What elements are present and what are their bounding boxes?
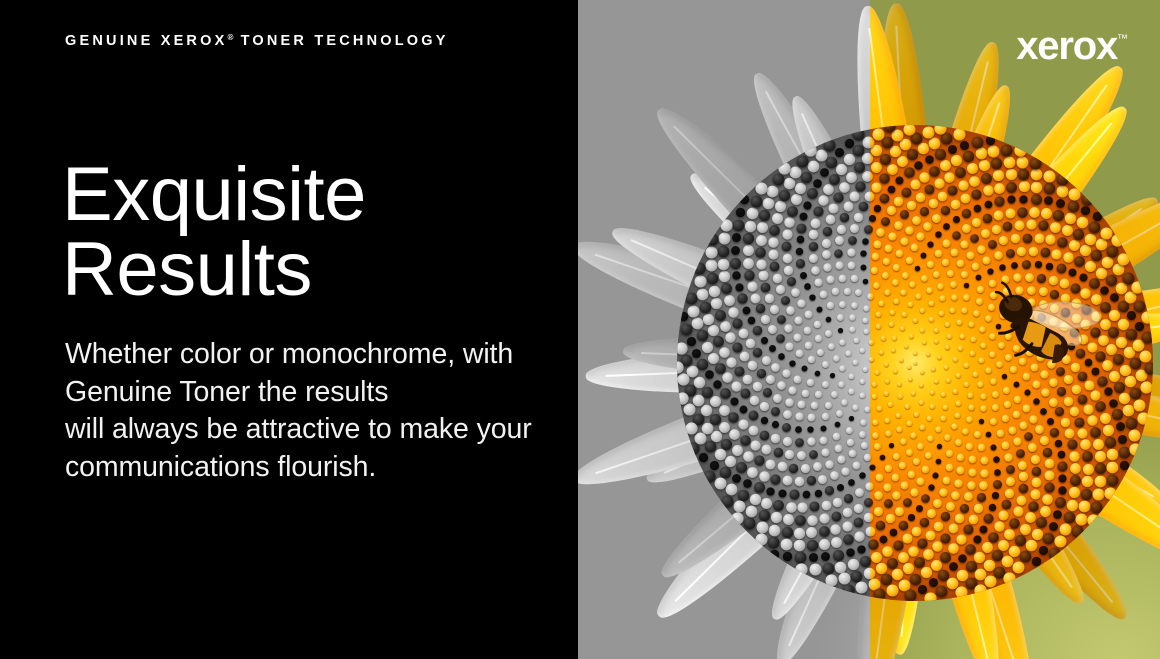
disc-floret bbox=[959, 180, 969, 190]
disc-floret bbox=[1017, 207, 1027, 217]
disc-floret bbox=[988, 240, 997, 249]
disc-floret bbox=[1120, 461, 1129, 470]
disc-floret bbox=[980, 481, 989, 490]
disc-floret bbox=[984, 513, 994, 523]
disc-floret bbox=[895, 412, 901, 418]
disc-floret bbox=[937, 444, 942, 449]
disc-floret bbox=[871, 182, 881, 192]
disc-floret bbox=[914, 411, 920, 417]
disc-floret bbox=[916, 233, 924, 241]
disc-floret bbox=[970, 234, 979, 243]
disc-floret bbox=[873, 128, 885, 140]
disc-floret bbox=[940, 416, 946, 422]
disc-floret bbox=[869, 356, 874, 361]
disc-floret bbox=[889, 310, 895, 316]
disc-floret bbox=[1067, 440, 1077, 450]
disc-floret bbox=[924, 550, 935, 561]
disc-floret bbox=[945, 434, 952, 441]
disc-floret bbox=[1093, 439, 1104, 450]
disc-floret bbox=[1081, 193, 1093, 205]
disc-floret bbox=[881, 217, 890, 226]
disc-floret bbox=[929, 300, 935, 306]
disc-floret bbox=[899, 462, 906, 469]
disc-floret bbox=[1009, 518, 1020, 529]
disc-floret bbox=[900, 237, 908, 245]
disc-floret bbox=[1091, 391, 1101, 401]
disc-floret bbox=[964, 492, 973, 501]
disc-floret bbox=[956, 372, 961, 377]
disc-floret bbox=[879, 193, 889, 203]
disc-floret bbox=[871, 163, 882, 174]
disc-floret bbox=[980, 393, 986, 399]
disc-floret bbox=[977, 493, 986, 502]
disc-floret bbox=[999, 265, 1006, 272]
disc-floret bbox=[999, 236, 1008, 245]
disc-floret bbox=[988, 532, 999, 543]
disc-floret bbox=[935, 148, 946, 159]
disc-floret bbox=[904, 344, 908, 348]
disc-floret bbox=[982, 542, 993, 553]
disc-floret bbox=[1022, 233, 1032, 243]
disc-floret bbox=[933, 271, 940, 278]
xerox-toner-banner: xerox™ GENUINE XEROX® TONER TECHNOLOGY E… bbox=[0, 0, 1160, 659]
disc-floret bbox=[871, 381, 876, 386]
disc-floret bbox=[882, 547, 893, 558]
disc-floret bbox=[1074, 256, 1085, 267]
disc-floret bbox=[882, 272, 889, 279]
disc-floret bbox=[955, 167, 966, 178]
disc-floret bbox=[920, 567, 931, 578]
disc-floret bbox=[909, 334, 914, 339]
disc-floret bbox=[1016, 495, 1026, 505]
disc-floret bbox=[956, 534, 966, 544]
disc-floret bbox=[973, 535, 981, 543]
trademark-icon: ™ bbox=[1117, 33, 1128, 45]
disc-floret bbox=[1095, 463, 1106, 474]
disc-floret bbox=[1032, 466, 1042, 476]
disc-floret bbox=[1060, 418, 1070, 428]
disc-floret bbox=[1103, 424, 1114, 435]
disc-floret bbox=[1064, 512, 1076, 524]
disc-floret bbox=[1013, 438, 1021, 446]
disc-floret bbox=[884, 499, 893, 508]
disc-floret bbox=[918, 585, 927, 594]
disc-floret bbox=[1069, 406, 1079, 416]
disc-floret bbox=[906, 420, 912, 426]
disc-floret bbox=[1001, 415, 1009, 423]
disc-floret bbox=[1050, 428, 1059, 437]
disc-floret bbox=[934, 249, 942, 257]
disc-floret bbox=[875, 370, 880, 375]
disc-floret bbox=[953, 389, 959, 395]
disc-floret bbox=[1025, 389, 1031, 395]
disc-floret bbox=[1069, 451, 1079, 461]
disc-floret bbox=[1065, 213, 1076, 224]
disc-floret bbox=[929, 578, 938, 587]
disc-floret bbox=[1044, 171, 1056, 183]
disc-floret bbox=[877, 228, 886, 237]
disc-floret bbox=[1041, 388, 1050, 397]
disc-floret bbox=[981, 229, 990, 238]
disc-floret bbox=[1056, 185, 1068, 197]
disc-floret bbox=[912, 526, 922, 536]
disc-floret bbox=[1046, 262, 1054, 270]
disc-floret bbox=[988, 269, 994, 275]
disc-floret bbox=[1039, 436, 1048, 445]
disc-floret bbox=[1079, 501, 1091, 513]
disc-floret bbox=[1064, 428, 1074, 438]
disc-floret bbox=[894, 221, 903, 230]
disc-floret bbox=[893, 264, 900, 271]
disc-floret bbox=[1089, 222, 1101, 234]
disc-floret bbox=[914, 351, 918, 355]
disc-floret bbox=[1075, 513, 1087, 525]
disc-floret bbox=[1142, 311, 1153, 323]
disc-floret bbox=[945, 345, 950, 350]
disc-floret bbox=[992, 492, 999, 499]
disc-floret bbox=[1106, 275, 1117, 286]
disc-floret bbox=[1044, 183, 1056, 195]
disc-floret bbox=[947, 334, 952, 339]
disc-floret bbox=[1040, 247, 1050, 257]
disc-floret bbox=[968, 322, 974, 328]
disc-floret bbox=[986, 432, 992, 438]
disc-floret bbox=[955, 439, 962, 446]
disc-floret bbox=[919, 172, 929, 182]
disc-floret bbox=[990, 444, 996, 450]
disc-floret bbox=[874, 204, 881, 211]
disc-floret bbox=[935, 231, 942, 238]
disc-floret bbox=[927, 509, 936, 518]
disc-floret bbox=[1003, 222, 1013, 232]
disc-floret bbox=[930, 390, 935, 395]
disc-floret bbox=[926, 530, 936, 540]
disc-floret bbox=[1030, 415, 1038, 423]
disc-floret bbox=[1019, 181, 1030, 192]
disc-floret bbox=[1015, 535, 1026, 546]
disc-floret bbox=[960, 241, 968, 249]
disc-floret bbox=[912, 216, 921, 225]
disc-floret bbox=[980, 457, 988, 465]
disc-floret bbox=[879, 350, 884, 355]
disc-floret bbox=[908, 366, 912, 370]
disc-floret bbox=[939, 296, 945, 302]
disc-floret bbox=[1015, 220, 1025, 230]
disc-floret bbox=[927, 261, 934, 268]
disc-floret bbox=[1096, 401, 1107, 412]
disc-floret bbox=[962, 208, 971, 217]
disc-floret bbox=[1135, 321, 1144, 330]
disc-floret bbox=[965, 544, 976, 555]
disc-floret bbox=[913, 458, 920, 465]
disc-floret bbox=[1019, 421, 1027, 429]
disc-floret bbox=[1120, 365, 1131, 376]
disc-floret bbox=[1044, 196, 1053, 205]
disc-floret bbox=[1001, 145, 1013, 157]
disc-floret bbox=[885, 379, 890, 384]
disc-floret bbox=[964, 294, 971, 301]
disc-floret bbox=[919, 400, 924, 405]
disc-floret bbox=[976, 275, 982, 281]
disc-floret bbox=[929, 199, 939, 209]
disc-floret bbox=[900, 325, 905, 330]
disc-floret bbox=[910, 488, 918, 496]
disc-floret bbox=[1057, 462, 1067, 472]
disc-floret bbox=[937, 355, 942, 360]
disc-floret bbox=[1104, 388, 1112, 396]
disc-floret bbox=[1070, 463, 1081, 474]
disc-floret bbox=[983, 214, 993, 224]
disc-floret bbox=[879, 173, 890, 184]
disc-floret bbox=[903, 563, 914, 574]
disc-floret bbox=[1002, 556, 1014, 568]
disc-floret bbox=[941, 533, 951, 543]
disc-floret bbox=[917, 443, 924, 450]
disc-floret bbox=[1125, 329, 1137, 341]
disc-floret bbox=[880, 535, 888, 543]
disc-floret bbox=[1028, 501, 1038, 511]
disc-floret bbox=[898, 394, 903, 399]
disc-floret bbox=[1047, 418, 1054, 425]
disc-floret bbox=[1118, 435, 1127, 444]
disc-floret bbox=[1111, 234, 1123, 246]
disc-floret bbox=[1043, 533, 1055, 545]
disc-floret bbox=[1062, 225, 1073, 236]
disc-floret bbox=[956, 259, 964, 267]
disc-floret bbox=[1032, 529, 1043, 540]
disc-floret bbox=[983, 186, 994, 197]
disc-floret bbox=[963, 151, 974, 162]
disc-floret bbox=[893, 541, 903, 551]
disc-floret bbox=[888, 322, 893, 327]
disc-floret bbox=[951, 491, 960, 500]
disc-floret bbox=[903, 125, 915, 135]
disc-floret bbox=[1004, 529, 1015, 540]
disc-floret bbox=[920, 371, 924, 375]
disc-floret bbox=[919, 308, 925, 314]
disc-floret bbox=[884, 464, 892, 472]
disc-floret bbox=[915, 162, 923, 170]
disc-floret bbox=[944, 172, 955, 183]
disc-floret bbox=[966, 416, 973, 423]
disc-floret bbox=[1110, 294, 1119, 303]
body-copy: Whether color or monochrome, with Genuin… bbox=[65, 336, 532, 486]
disc-floret bbox=[922, 494, 931, 503]
disc-floret bbox=[893, 299, 899, 305]
disc-floret bbox=[998, 511, 1008, 521]
disc-floret bbox=[1071, 384, 1081, 394]
disc-floret bbox=[941, 206, 950, 215]
disc-floret bbox=[979, 160, 990, 171]
disc-floret bbox=[1080, 245, 1091, 256]
disc-floret bbox=[871, 552, 882, 563]
disc-floret bbox=[1107, 462, 1119, 474]
disc-floret bbox=[943, 239, 951, 247]
disc-floret bbox=[1011, 262, 1018, 269]
registered-mark-icon: ® bbox=[227, 33, 233, 42]
disc-floret bbox=[1020, 524, 1031, 535]
disc-floret bbox=[1106, 449, 1118, 461]
disc-floret bbox=[1031, 169, 1043, 181]
disc-floret bbox=[1006, 169, 1017, 180]
disc-floret bbox=[972, 262, 980, 270]
disc-floret bbox=[876, 323, 882, 329]
disc-floret bbox=[993, 170, 1004, 181]
disc-floret bbox=[932, 214, 941, 223]
disc-floret bbox=[901, 188, 911, 198]
disc-floret bbox=[1052, 249, 1062, 259]
disc-floret bbox=[905, 257, 912, 264]
disc-floret bbox=[1063, 252, 1073, 262]
disc-floret bbox=[913, 361, 917, 365]
disc-floret bbox=[969, 351, 975, 357]
disc-floret bbox=[973, 310, 980, 317]
disc-floret bbox=[1087, 514, 1099, 526]
disc-floret bbox=[924, 592, 936, 601]
disc-floret bbox=[1057, 237, 1068, 248]
disc-floret bbox=[1009, 546, 1020, 557]
disc-floret bbox=[992, 404, 999, 411]
disc-floret bbox=[950, 249, 958, 257]
disc-floret bbox=[974, 552, 985, 563]
disc-floret bbox=[946, 502, 955, 511]
disc-floret bbox=[1116, 422, 1125, 431]
disc-floret bbox=[876, 311, 882, 317]
disc-floret bbox=[1126, 417, 1138, 429]
disc-floret bbox=[985, 576, 997, 588]
disc-floret bbox=[886, 584, 898, 596]
disc-floret bbox=[908, 514, 915, 521]
disc-floret bbox=[875, 474, 883, 482]
eyebrow-text: GENUINE XEROX® TONER TECHNOLOGY bbox=[65, 33, 449, 49]
disc-floret bbox=[910, 180, 920, 190]
disc-floret bbox=[1023, 405, 1031, 413]
disc-floret bbox=[926, 287, 932, 293]
disc-floret bbox=[1094, 451, 1105, 462]
disc-floret bbox=[1082, 452, 1093, 463]
disc-floret bbox=[1078, 394, 1088, 404]
disc-floret bbox=[953, 129, 965, 141]
sunflower-photo: xerox™ bbox=[578, 0, 1160, 659]
disc-floret bbox=[1091, 427, 1102, 438]
disc-floret bbox=[968, 469, 976, 477]
disc-floret bbox=[900, 438, 907, 445]
disc-floret bbox=[955, 400, 961, 406]
disc-floret bbox=[1069, 269, 1077, 277]
disc-floret bbox=[949, 543, 960, 554]
disc-floret bbox=[1069, 487, 1080, 498]
disc-floret bbox=[929, 166, 940, 177]
disc-floret bbox=[1087, 415, 1097, 425]
disc-floret bbox=[967, 163, 978, 174]
disc-floret bbox=[967, 481, 976, 490]
disc-floret bbox=[1029, 246, 1039, 256]
disc-floret bbox=[884, 362, 889, 367]
disc-floret bbox=[1042, 447, 1052, 457]
disc-floret bbox=[1030, 157, 1042, 169]
disc-floret bbox=[922, 341, 927, 346]
disc-floret bbox=[940, 160, 951, 171]
disc-floret bbox=[1070, 475, 1081, 486]
disc-floret bbox=[925, 451, 932, 458]
disc-floret bbox=[928, 484, 934, 490]
disc-floret bbox=[1056, 264, 1066, 274]
disc-floret bbox=[871, 253, 879, 261]
disc-floret bbox=[906, 226, 915, 235]
disc-floret bbox=[1073, 229, 1084, 240]
disc-floret bbox=[874, 491, 883, 500]
disc-floret bbox=[978, 444, 986, 452]
disc-floret bbox=[1006, 249, 1015, 258]
disc-floret bbox=[907, 470, 915, 478]
disc-floret bbox=[953, 357, 958, 362]
disc-floret bbox=[1059, 524, 1071, 536]
disc-floret bbox=[1004, 453, 1013, 462]
disc-floret bbox=[1035, 425, 1044, 434]
disc-floret bbox=[1109, 399, 1118, 408]
disc-floret bbox=[943, 476, 951, 484]
disc-floret bbox=[1032, 557, 1041, 566]
disc-floret bbox=[930, 404, 935, 409]
disc-floret bbox=[1057, 387, 1066, 396]
disc-floret bbox=[961, 271, 968, 278]
disc-floret bbox=[916, 293, 922, 299]
disc-floret bbox=[1129, 443, 1141, 455]
disc-floret bbox=[958, 346, 963, 351]
disc-floret bbox=[1064, 396, 1073, 405]
disc-floret bbox=[887, 206, 896, 215]
disc-floret bbox=[869, 340, 874, 345]
disc-floret bbox=[1038, 220, 1049, 231]
page-title: Exquisite Results bbox=[62, 157, 366, 307]
disc-floret bbox=[1049, 398, 1058, 407]
left-text-panel: GENUINE XEROX® TONER TECHNOLOGY Exquisit… bbox=[0, 0, 578, 659]
disc-floret bbox=[1067, 500, 1078, 511]
disc-floret bbox=[936, 585, 948, 597]
disc-floret bbox=[1116, 337, 1127, 348]
disc-floret bbox=[1069, 240, 1080, 251]
disc-floret bbox=[1014, 144, 1026, 156]
disc-floret bbox=[994, 522, 1004, 532]
disc-floret bbox=[972, 218, 981, 227]
disc-floret bbox=[904, 168, 915, 179]
disc-floret bbox=[1006, 182, 1017, 193]
disc-floret bbox=[898, 552, 909, 563]
disc-floret bbox=[934, 499, 943, 508]
disc-floret bbox=[915, 193, 925, 203]
disc-floret bbox=[992, 225, 1001, 234]
disc-floret bbox=[1018, 169, 1030, 181]
disc-floret bbox=[941, 512, 950, 521]
disc-floret bbox=[893, 491, 902, 500]
disc-floret bbox=[1036, 517, 1047, 528]
disc-floret bbox=[908, 546, 919, 557]
disc-floret bbox=[1112, 264, 1124, 276]
disc-floret bbox=[934, 521, 944, 531]
disc-floret bbox=[874, 507, 883, 516]
disc-floret bbox=[1019, 472, 1028, 481]
disc-floret bbox=[927, 241, 933, 247]
disc-floret bbox=[1030, 490, 1040, 500]
disc-floret bbox=[1059, 475, 1067, 483]
disc-floret bbox=[934, 328, 939, 333]
disc-floret bbox=[1035, 261, 1042, 268]
disc-floret bbox=[950, 307, 956, 313]
disc-floret bbox=[1096, 267, 1107, 278]
disc-floret bbox=[928, 317, 933, 322]
disc-floret bbox=[888, 402, 893, 407]
disc-floret bbox=[975, 148, 987, 160]
